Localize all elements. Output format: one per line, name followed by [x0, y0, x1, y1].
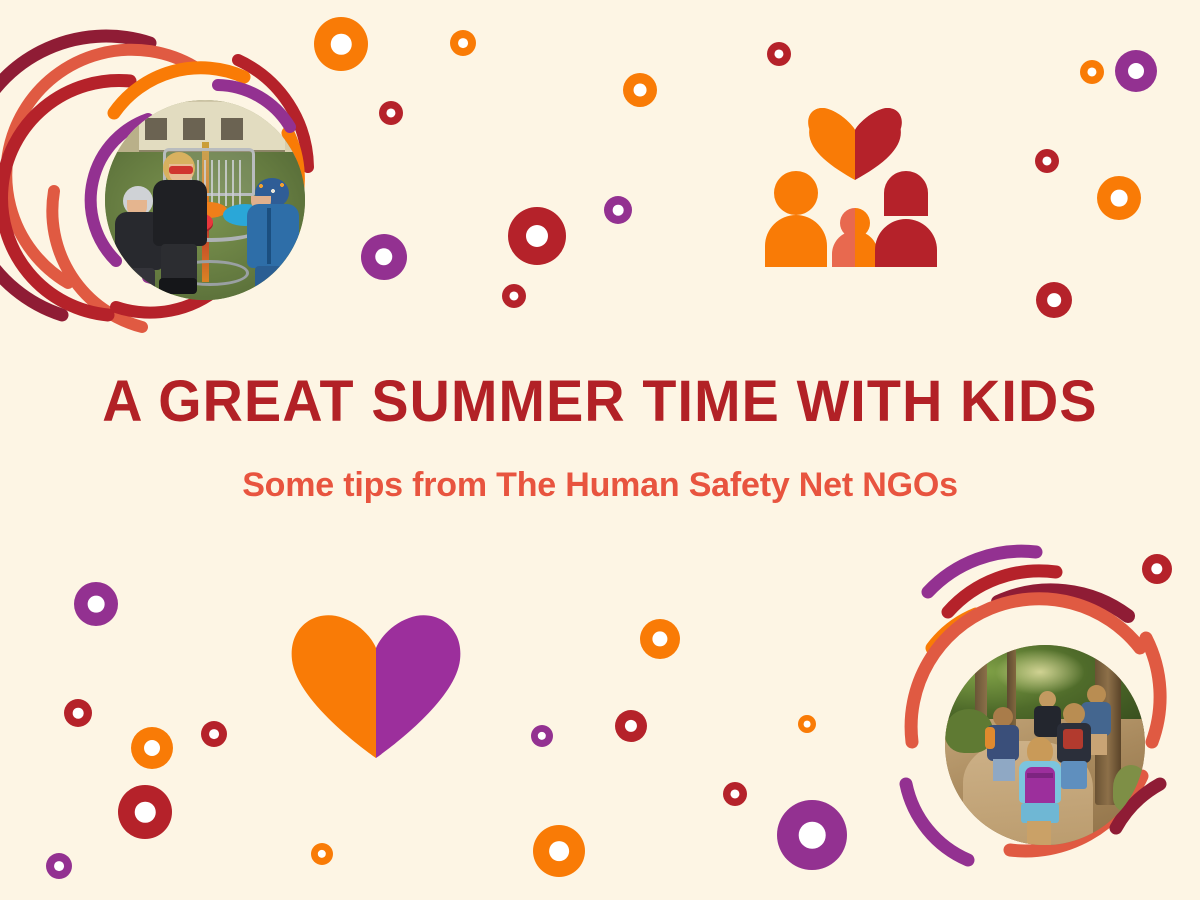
decorative-dot: [314, 17, 368, 71]
decorative-dot: [723, 782, 747, 806]
decorative-dot: [1035, 149, 1059, 173]
decorative-dot: [131, 727, 173, 769]
decorative-dot: [1142, 554, 1172, 584]
decorative-dot: [508, 207, 566, 265]
decorative-dot: [1115, 50, 1157, 92]
family-heart: [808, 108, 902, 180]
decorative-dot: [379, 101, 403, 125]
top-left-medallion: [20, 15, 320, 345]
decorative-dot: [118, 785, 172, 839]
decorative-dot: [531, 725, 553, 747]
decorative-dot: [623, 73, 657, 107]
family-adult-left: [765, 171, 827, 267]
family-with-heart-icon: [760, 108, 950, 276]
decorative-dot: [450, 30, 476, 56]
decorative-dot: [1097, 176, 1141, 220]
decorative-dot: [1080, 60, 1104, 84]
page-subtitle: Some tips from The Human Safety Net NGOs: [0, 467, 1200, 504]
decorative-dot: [640, 619, 680, 659]
decorative-dot: [767, 42, 791, 66]
kids-disc-golf-photo: [105, 100, 305, 300]
decorative-dot: [46, 853, 72, 879]
poster-text-block: A GREAT SUMMER TIME WITH KIDS Some tips …: [0, 372, 1200, 504]
decorative-dot: [798, 715, 816, 733]
poster-canvas: A GREAT SUMMER TIME WITH KIDS Some tips …: [0, 0, 1200, 900]
decorative-dot: [361, 234, 407, 280]
decorative-dot: [604, 196, 632, 224]
split-heart-icon: [287, 612, 465, 760]
page-title: A GREAT SUMMER TIME WITH KIDS: [24, 372, 1176, 433]
decorative-dot: [615, 710, 647, 742]
family-adult-right: [875, 171, 937, 267]
decorative-dot: [777, 800, 847, 870]
decorative-dot: [311, 843, 333, 865]
decorative-dot: [502, 284, 526, 308]
decorative-dot: [64, 699, 92, 727]
kids-hiking-photo: [945, 645, 1145, 845]
decorative-dot: [74, 582, 118, 626]
decorative-dot: [1036, 282, 1072, 318]
family-child-center: [832, 208, 878, 267]
decorative-dot: [201, 721, 227, 747]
decorative-dot: [533, 825, 585, 877]
bottom-right-medallion: [890, 530, 1190, 875]
